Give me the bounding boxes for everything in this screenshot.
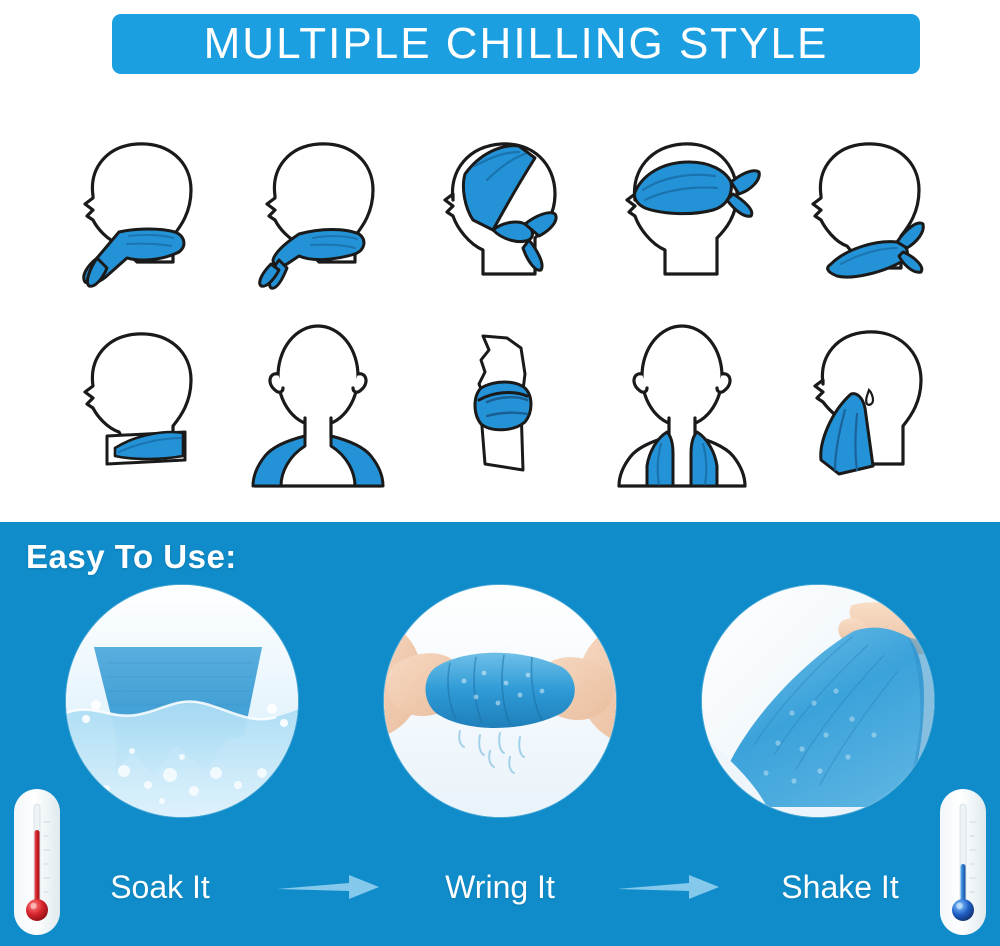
product-infographic: MULTIPLE CHILLING STYLE	[0, 0, 1000, 946]
style-neck-drape	[591, 314, 773, 499]
step-label-wring: Wring It	[385, 869, 615, 906]
style-wrist-wrap	[409, 314, 591, 499]
easy-to-use-panel: Easy To Use:	[0, 522, 1000, 946]
thermometer-cold-icon	[936, 786, 990, 938]
easy-to-use-heading: Easy To Use:	[26, 538, 237, 576]
thermometer-hot-icon	[10, 786, 64, 938]
arrow-icon-1	[275, 870, 385, 904]
photo-row	[0, 580, 1000, 830]
style-diagonal-bandana	[409, 124, 591, 309]
style-scarf-back-knot	[773, 124, 955, 309]
chilling-styles-grid	[0, 96, 1000, 516]
step-label-shake: Shake It	[725, 869, 955, 906]
style-scarf-front-knot	[227, 124, 409, 309]
photo-soak	[66, 585, 298, 817]
style-neck-gaiter	[45, 314, 227, 499]
styles-row-1	[0, 124, 1000, 314]
photo-shake	[702, 585, 934, 817]
step-label-soak: Soak It	[45, 869, 275, 906]
title-banner: MULTIPLE CHILLING STYLE	[112, 14, 920, 74]
arrow-icon-2	[615, 870, 725, 904]
style-forehead-headband	[591, 124, 773, 309]
styles-row-2	[0, 314, 1000, 504]
style-shoulder-drape	[227, 314, 409, 499]
style-scarf-around-neck	[45, 124, 227, 309]
style-face-wipe	[773, 314, 955, 499]
steps-row: Soak It Wring It Shake It	[0, 852, 1000, 922]
page-title: MULTIPLE CHILLING STYLE	[204, 22, 829, 66]
photo-wring	[384, 585, 616, 817]
